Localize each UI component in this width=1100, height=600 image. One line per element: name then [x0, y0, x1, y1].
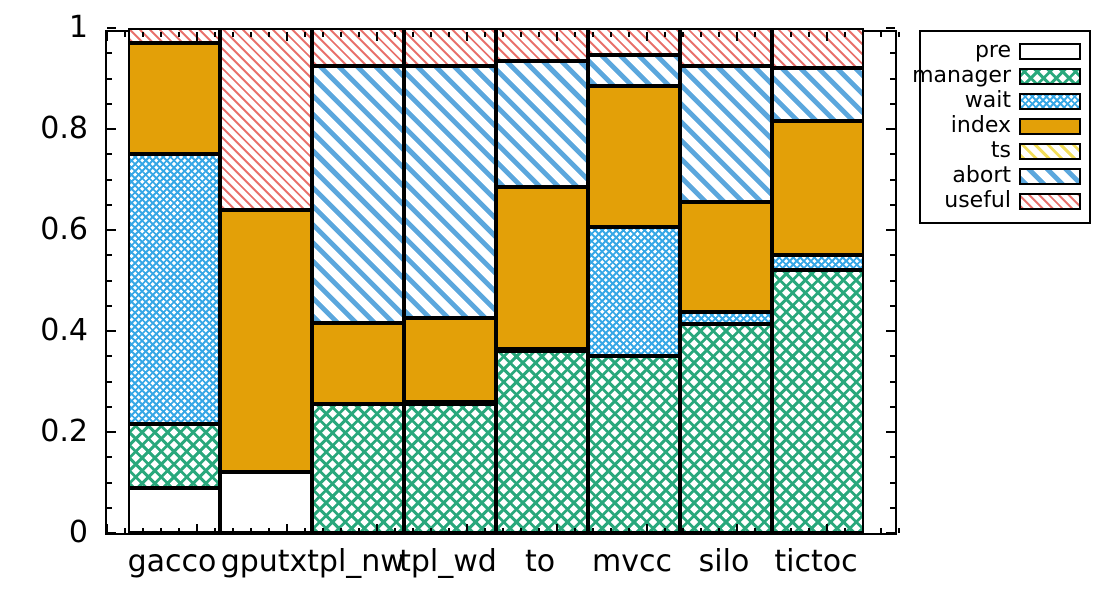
x-tick-minor: [592, 32, 594, 37]
legend-item-manager[interactable]: manager: [929, 64, 1081, 88]
x-tick-minor: [682, 528, 684, 533]
x-tick-minor: [214, 32, 216, 37]
y-tick-minor: [890, 280, 895, 282]
x-tick-minor: [862, 528, 864, 533]
bar-segment-gacco-manager: [128, 424, 220, 487]
x-tick-minor: [502, 32, 504, 37]
bar-segment-tpl_nw-abort: [312, 66, 404, 324]
x-tick-minor: [772, 528, 774, 533]
bar-segment-tpl_wd-useful: [404, 28, 496, 66]
legend-label-useful: useful: [944, 190, 1011, 212]
x-tick-minor: [448, 32, 450, 37]
bar-segment-mvcc-index: [588, 86, 680, 227]
x-tick-minor: [718, 528, 720, 533]
x-tick-minor: [844, 528, 846, 533]
legend-swatch-pre: [1019, 43, 1081, 60]
x-tick-label-tictoc: tictoc: [746, 545, 886, 578]
legend-label-abort: abort: [952, 165, 1011, 187]
x-tick-minor: [160, 528, 162, 533]
y-tick-minor: [890, 52, 895, 54]
x-tick-minor: [340, 528, 342, 533]
x-tick-major: [196, 524, 198, 533]
bar-segment-mvcc-wait: [588, 227, 680, 356]
bar-mvcc: [588, 28, 680, 533]
x-tick-minor: [484, 32, 486, 37]
bar-segment-tpl_nw-index: [312, 323, 404, 404]
x-tick-major: [646, 32, 648, 41]
bar-segment-mvcc-abort: [588, 55, 680, 86]
x-tick-major: [826, 32, 828, 41]
bar-tpl_wd: [404, 28, 496, 533]
y-tick-label: 0.2: [0, 417, 88, 447]
x-tick-minor: [790, 32, 792, 37]
x-tick-major: [826, 524, 828, 533]
y-tick-minor: [107, 103, 112, 105]
x-tick-minor: [574, 32, 576, 37]
y-tick-major: [886, 229, 895, 231]
bar-segment-tictoc-useful: [772, 28, 864, 68]
x-tick-minor: [538, 32, 540, 37]
legend-swatch-index: [1019, 118, 1081, 135]
x-tick-major: [736, 524, 738, 533]
legend-swatch-ts: [1019, 143, 1081, 160]
x-tick-major: [286, 32, 288, 41]
y-tick-minor: [890, 406, 895, 408]
x-tick-minor: [484, 528, 486, 533]
y-tick-minor: [107, 355, 112, 357]
bar-segment-to-manager: [496, 351, 588, 533]
x-tick-minor: [430, 528, 432, 533]
bar-segment-mvcc-useful: [588, 28, 680, 55]
y-tick-major: [107, 330, 116, 332]
y-tick-minor: [107, 153, 112, 155]
y-tick-minor: [890, 482, 895, 484]
x-tick-minor: [160, 32, 162, 37]
bar-segment-tpl_wd-manager: [404, 404, 496, 533]
bar-segment-gacco-wait: [128, 154, 220, 424]
x-tick-minor: [682, 32, 684, 37]
legend-swatch-useful: [1019, 193, 1081, 210]
x-tick-major: [556, 32, 558, 41]
x-tick-minor: [322, 528, 324, 533]
x-tick-minor: [520, 32, 522, 37]
x-tick-major: [556, 524, 558, 533]
bar-gacco: [128, 28, 220, 533]
y-tick-minor: [107, 406, 112, 408]
x-tick-minor: [718, 32, 720, 37]
x-tick-minor: [862, 32, 864, 37]
x-tick-minor: [124, 528, 126, 533]
bar-gputx: [220, 28, 312, 533]
y-tick-minor: [890, 381, 895, 383]
x-tick-major: [376, 32, 378, 41]
legend-item-wait[interactable]: wait: [929, 89, 1081, 113]
bar-segment-tpl_wd-index: [404, 318, 496, 401]
x-tick-minor: [232, 528, 234, 533]
legend-label-wait: wait: [965, 90, 1011, 112]
x-tick-minor: [592, 528, 594, 533]
y-tick-minor: [107, 381, 112, 383]
bar-to: [496, 28, 588, 533]
x-tick-major: [196, 32, 198, 41]
plot-area: [105, 30, 897, 535]
x-tick-minor: [880, 32, 882, 37]
y-tick-major: [107, 532, 116, 534]
y-tick-major: [107, 128, 116, 130]
y-tick-label: 0: [0, 518, 88, 548]
x-tick-minor: [628, 528, 630, 533]
x-tick-major: [376, 524, 378, 533]
legend-swatch-wait: [1019, 93, 1081, 110]
y-tick-minor: [890, 456, 895, 458]
x-tick-minor: [430, 32, 432, 37]
legend-item-index[interactable]: index: [929, 114, 1081, 138]
y-tick-minor: [107, 78, 112, 80]
y-tick-minor: [890, 78, 895, 80]
x-tick-minor: [772, 32, 774, 37]
y-tick-minor: [107, 507, 112, 509]
x-tick-minor: [304, 32, 306, 37]
x-tick-minor: [358, 528, 360, 533]
bar-segment-tictoc-index: [772, 121, 864, 255]
bar-segment-silo-useful: [680, 28, 772, 66]
x-tick-minor: [664, 32, 666, 37]
legend-label-pre: pre: [975, 40, 1011, 62]
y-tick-minor: [107, 305, 112, 307]
x-tick-minor: [790, 528, 792, 533]
y-tick-major: [107, 27, 116, 29]
x-tick-minor: [664, 528, 666, 533]
legend-item-pre[interactable]: pre: [929, 39, 1081, 63]
bar-segment-tictoc-abort: [772, 68, 864, 121]
y-tick-minor: [890, 507, 895, 509]
bar-segment-gputx-pre: [220, 472, 312, 533]
bar-segment-to-abort: [496, 61, 588, 187]
x-tick-minor: [124, 32, 126, 37]
bar-segment-tictoc-manager: [772, 270, 864, 533]
bar-segment-tictoc-wait: [772, 255, 864, 270]
legend-label-ts: ts: [991, 140, 1011, 162]
y-tick-major: [107, 229, 116, 231]
y-tick-minor: [107, 254, 112, 256]
y-tick-minor: [107, 456, 112, 458]
y-tick-minor: [890, 355, 895, 357]
bar-segment-gputx-useful: [220, 28, 312, 210]
bar-segment-gputx-index: [220, 210, 312, 473]
bar-tpl_nw: [312, 28, 404, 533]
x-tick-minor: [538, 528, 540, 533]
y-tick-minor: [107, 280, 112, 282]
x-tick-minor: [268, 528, 270, 533]
x-tick-minor: [268, 32, 270, 37]
bar-segment-gacco-index: [128, 43, 220, 154]
stacked-bar-chart: 00.20.40.60.81 gaccogputxtpl_nwtpl_wdtom…: [0, 0, 1100, 600]
bar-segment-tpl_nw-manager: [312, 404, 404, 533]
legend-label-manager: manager: [912, 65, 1011, 87]
y-tick-minor: [890, 204, 895, 206]
legend-label-index: index: [951, 115, 1011, 137]
x-tick-minor: [610, 528, 612, 533]
x-tick-minor: [358, 32, 360, 37]
x-tick-minor: [628, 32, 630, 37]
legend: premanagerwaitindextsabortuseful: [919, 30, 1091, 224]
y-tick-major: [886, 431, 895, 433]
x-tick-minor: [142, 528, 144, 533]
bar-segment-tpl_wd-abort: [404, 66, 496, 319]
y-tick-major: [886, 27, 895, 29]
x-tick-minor: [700, 32, 702, 37]
x-tick-minor: [844, 32, 846, 37]
y-tick-major: [886, 532, 895, 534]
x-tick-minor: [448, 528, 450, 533]
x-tick-minor: [412, 528, 414, 533]
y-tick-minor: [890, 153, 895, 155]
y-tick-minor: [890, 305, 895, 307]
y-tick-label: 0.4: [0, 316, 88, 346]
bar-segment-silo-abort: [680, 66, 772, 202]
bar-segment-silo-wait: [680, 312, 772, 324]
x-tick-minor: [898, 528, 900, 533]
bar-segment-gacco-pre: [128, 488, 220, 533]
legend-item-abort[interactable]: abort: [929, 164, 1081, 188]
x-tick-major: [286, 524, 288, 533]
bars-container: [107, 32, 895, 533]
x-tick-minor: [808, 32, 810, 37]
x-tick-major: [106, 524, 108, 533]
legend-swatch-abort: [1019, 168, 1081, 185]
x-tick-minor: [394, 32, 396, 37]
bar-segment-silo-index: [680, 202, 772, 312]
x-tick-minor: [250, 528, 252, 533]
x-tick-minor: [322, 32, 324, 37]
x-tick-minor: [754, 528, 756, 533]
legend-item-useful[interactable]: useful: [929, 189, 1081, 213]
x-tick-minor: [178, 32, 180, 37]
legend-swatch-manager: [1019, 68, 1081, 85]
y-tick-minor: [107, 52, 112, 54]
bar-silo: [680, 28, 772, 533]
x-tick-major: [466, 32, 468, 41]
legend-item-ts[interactable]: ts: [929, 139, 1081, 163]
bar-segment-to-index: [496, 187, 588, 349]
x-tick-minor: [412, 32, 414, 37]
y-tick-minor: [890, 254, 895, 256]
x-tick-minor: [394, 528, 396, 533]
bar-segment-mvcc-manager: [588, 356, 680, 533]
y-tick-label: 1: [0, 13, 88, 43]
y-tick-major: [886, 128, 895, 130]
x-tick-minor: [142, 32, 144, 37]
x-tick-minor: [898, 32, 900, 37]
x-tick-major: [466, 524, 468, 533]
x-tick-minor: [214, 528, 216, 533]
x-tick-major: [646, 524, 648, 533]
x-tick-minor: [502, 528, 504, 533]
x-tick-minor: [520, 528, 522, 533]
x-axis-labels: gaccogputxtpl_nwtpl_wdtomvccsilotictoc: [105, 545, 897, 595]
x-tick-minor: [808, 528, 810, 533]
y-tick-major: [107, 431, 116, 433]
x-tick-minor: [232, 32, 234, 37]
x-tick-minor: [340, 32, 342, 37]
y-tick-minor: [890, 179, 895, 181]
y-tick-minor: [107, 204, 112, 206]
x-tick-minor: [304, 528, 306, 533]
y-tick-minor: [890, 103, 895, 105]
x-tick-minor: [880, 528, 882, 533]
x-tick-major: [736, 32, 738, 41]
bar-segment-silo-manager: [680, 324, 772, 533]
y-tick-major: [886, 330, 895, 332]
x-tick-minor: [610, 32, 612, 37]
x-tick-minor: [250, 32, 252, 37]
y-tick-label: 0.6: [0, 215, 88, 245]
x-tick-minor: [574, 528, 576, 533]
y-axis-labels: 00.20.40.60.81: [0, 0, 90, 600]
bar-tictoc: [772, 28, 864, 533]
y-tick-label: 0.8: [0, 114, 88, 144]
x-tick-minor: [178, 528, 180, 533]
x-tick-major: [106, 32, 108, 41]
y-tick-minor: [107, 179, 112, 181]
x-tick-minor: [700, 528, 702, 533]
x-tick-minor: [754, 32, 756, 37]
y-tick-minor: [107, 482, 112, 484]
